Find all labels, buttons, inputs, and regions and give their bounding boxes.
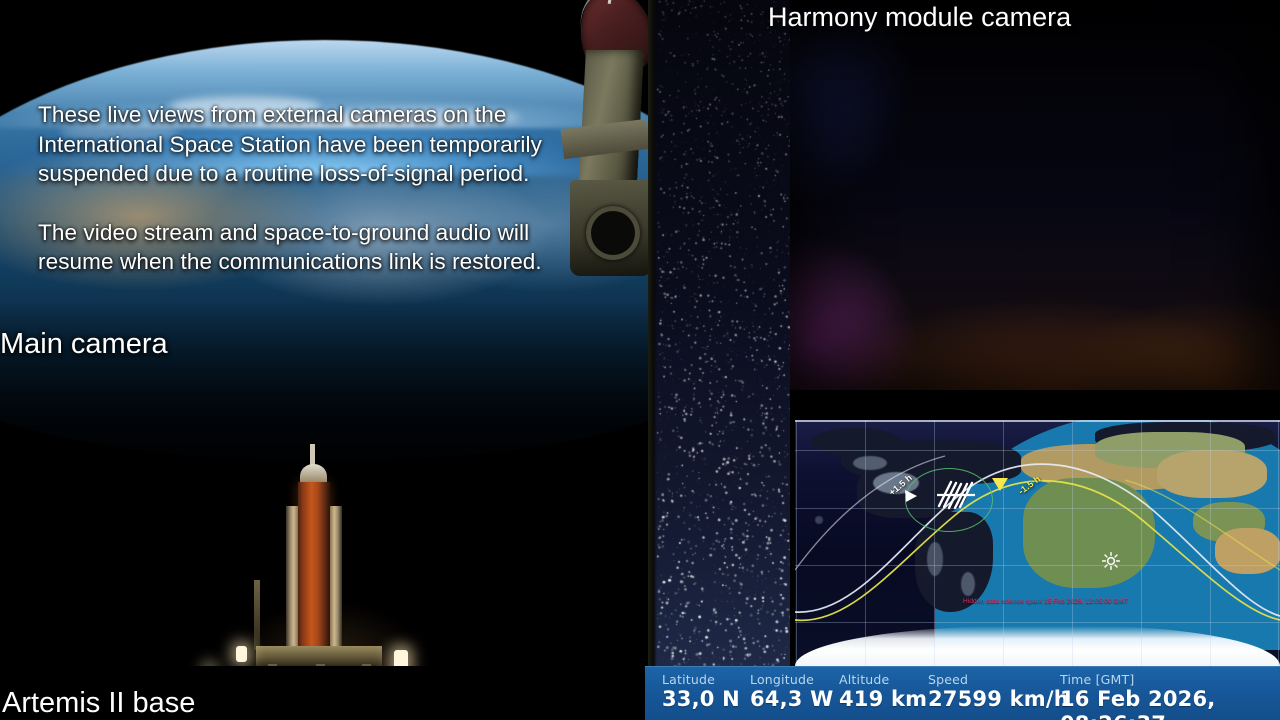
main-camera-panel[interactable]: These live views from external cameras o… <box>0 0 648 720</box>
loss-of-signal-overlay: These live views from external cameras o… <box>38 100 608 277</box>
telemetry-label: Longitude <box>750 672 834 687</box>
telemetry-item-time: Time [GMT] 16 Feb 2026, 08:26:37 <box>1060 672 1280 720</box>
telemetry-value: 33,0 N <box>662 687 740 712</box>
orbit-direction-marker-white <box>903 488 919 504</box>
telemetry-value: 419 km <box>839 687 927 712</box>
map-annotation-note: Hidden data science spark 15 Feb 2026, 1… <box>963 598 1128 605</box>
los-text-line: These live views from external cameras o… <box>38 100 608 130</box>
iss-icon[interactable] <box>933 476 979 514</box>
telemetry-label: Altitude <box>839 672 927 687</box>
los-text-line: suspended due to a routine loss-of-signa… <box>38 159 608 189</box>
telemetry-bar: Latitude 33,0 N Longitude 64,3 W Altitud… <box>645 666 1280 720</box>
iss-tracker-map[interactable]: +1.5 h -1.5 h Hidden data science spark … <box>795 420 1280 666</box>
telemetry-label: Speed <box>928 672 1069 687</box>
telemetry-label: Latitude <box>662 672 740 687</box>
harmony-camera-panel[interactable] <box>790 0 1280 412</box>
strip-left-edge <box>648 0 657 720</box>
telemetry-value: 27599 km/h <box>928 687 1069 712</box>
sls-core-stage <box>298 482 330 650</box>
los-text-line: resume when the communications link is r… <box>38 247 608 277</box>
telemetry-value: 64,3 W <box>750 687 834 712</box>
telemetry-item-latitude: Latitude 33,0 N <box>662 672 740 712</box>
sun-icon <box>1102 552 1120 570</box>
los-text-line: International Space Station have been te… <box>38 130 608 160</box>
telemetry-item-altitude: Altitude 419 km <box>839 672 927 712</box>
artemis-base-label: Artemis II base <box>2 689 195 718</box>
main-camera-label: Main camera <box>0 330 168 359</box>
telemetry-value: 16 Feb 2026, 08:26:37 <box>1060 687 1280 720</box>
orbit-direction-marker-yellow <box>991 476 1009 492</box>
starfield-strip <box>648 0 790 720</box>
solid-rocket-booster-right <box>329 506 342 646</box>
rocket-nose-spike <box>310 444 315 466</box>
telemetry-label: Time [GMT] <box>1060 672 1280 687</box>
los-text-line: The video stream and space-to-ground aud… <box>38 218 608 248</box>
telemetry-item-longitude: Longitude 64,3 W <box>750 672 834 712</box>
launch-tower <box>254 580 260 650</box>
harmony-camera-label: Harmony module camera <box>768 4 1071 31</box>
vignette <box>790 8 1280 390</box>
floodlight <box>236 646 247 662</box>
starfield-canvas <box>648 0 790 720</box>
telemetry-item-speed: Speed 27599 km/h <box>928 672 1069 712</box>
harmony-camera-view <box>790 8 1280 390</box>
orbit-ground-tracks <box>795 420 1280 666</box>
iss-live-stream-screen: These live views from external cameras o… <box>0 0 1280 720</box>
